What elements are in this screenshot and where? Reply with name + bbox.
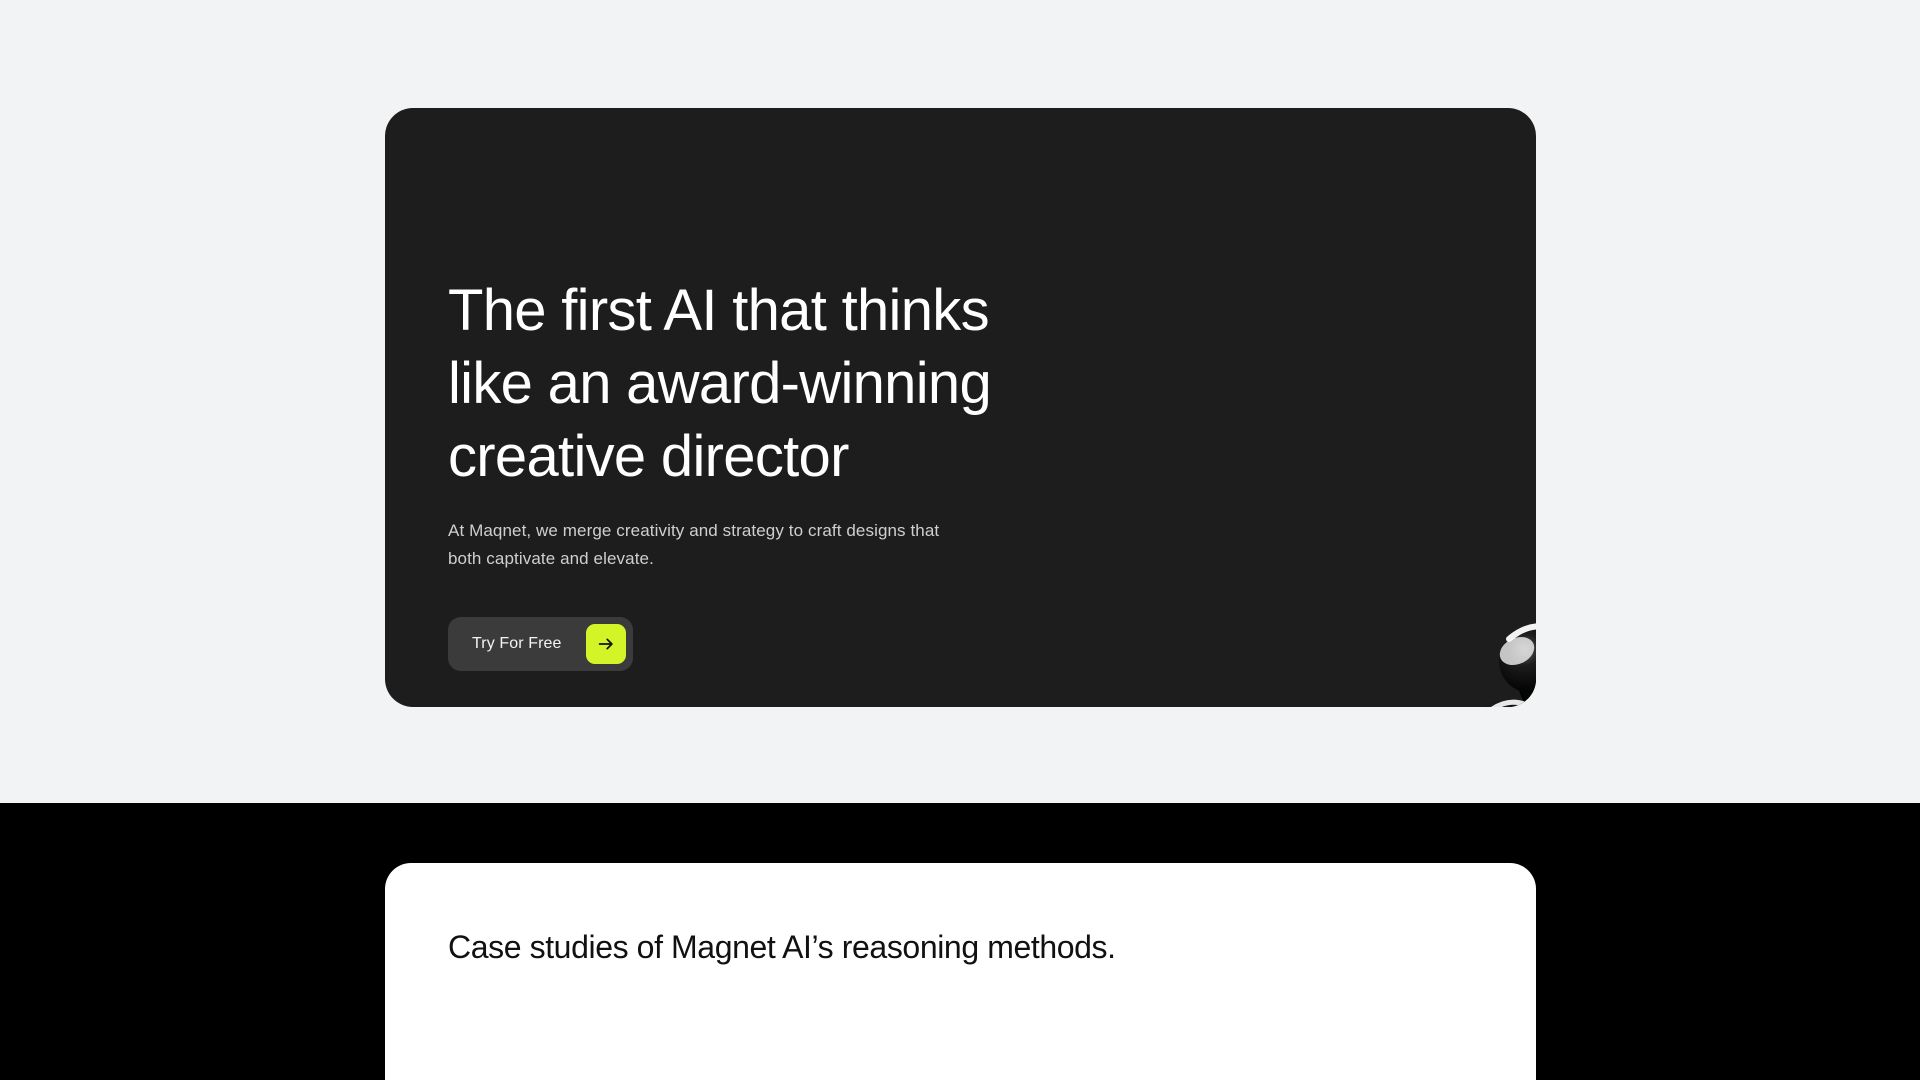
- jack-cross-3d-object: [1470, 603, 1536, 707]
- hero-card: The first AI that thinks like an award-w…: [385, 108, 1536, 707]
- case-studies-heading: Case studies of Magnet AI’s reasoning me…: [448, 929, 1116, 966]
- page-title: The first AI that thinks like an award-w…: [448, 274, 1128, 493]
- try-for-free-button[interactable]: Try For Free: [448, 617, 633, 671]
- try-for-free-label: Try For Free: [472, 635, 562, 653]
- coil-sphere-3d-object: [1532, 246, 1536, 426]
- hero-copy: The first AI that thinks like an award-w…: [448, 274, 1128, 671]
- hero-section: The first AI that thinks like an award-w…: [0, 0, 1920, 803]
- landing-page: The first AI that thinks like an award-w…: [0, 0, 1920, 1080]
- arrow-right-icon[interactable]: [586, 624, 626, 664]
- cta-wrapper: Try For Free: [448, 617, 1128, 671]
- hero-subtitle: At Maqnet, we merge creativity and strat…: [448, 517, 1128, 573]
- case-studies-card: Case studies of Magnet AI’s reasoning me…: [385, 863, 1536, 1080]
